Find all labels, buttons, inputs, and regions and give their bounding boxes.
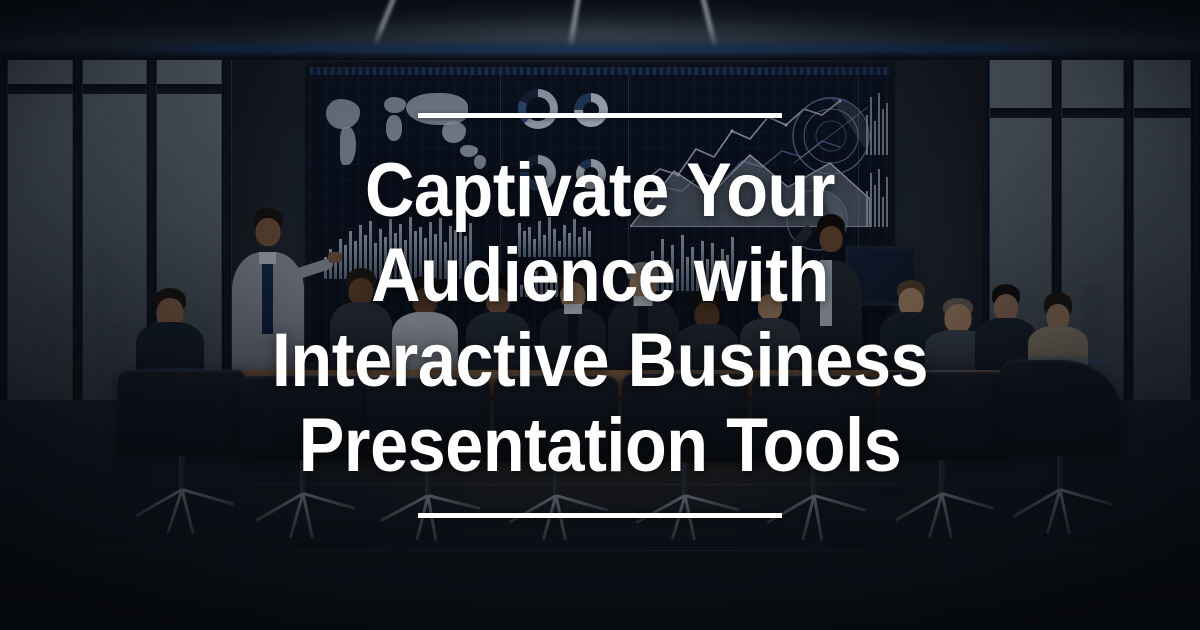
headline-overlay: Captivate Your Audience with Interactive… <box>0 0 1200 630</box>
bottom-divider-rule <box>418 513 782 518</box>
headline-line-3: Interactive Business <box>146 318 1055 403</box>
top-divider-rule <box>418 113 782 118</box>
page-title: Captivate Your Audience with Interactive… <box>146 148 1055 488</box>
headline-line-1: Captivate Your <box>146 148 1055 233</box>
headline-line-4: Presentation Tools <box>146 403 1055 488</box>
hero-banner: Captivate Your Audience with Interactive… <box>0 0 1200 630</box>
headline-line-2: Audience with <box>146 233 1055 318</box>
